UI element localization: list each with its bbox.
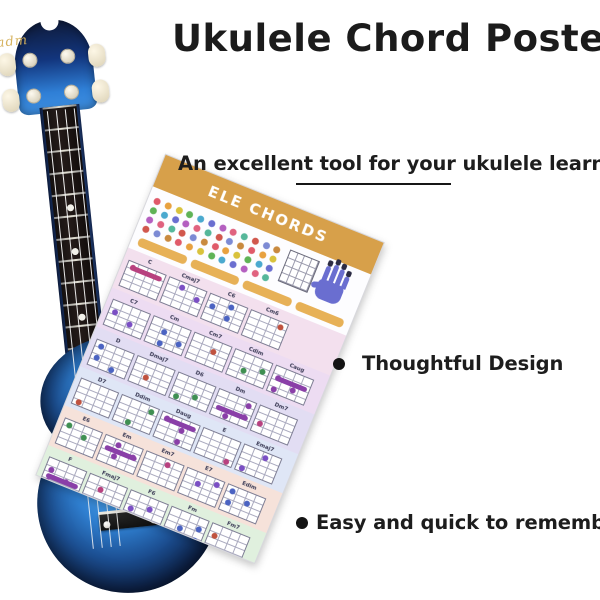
note-dot [261,273,270,282]
ukulele-headstock [11,16,98,116]
tuning-peg-4 [91,79,110,104]
note-dot [196,247,205,256]
subtitle-underline [296,183,451,185]
note-dot [210,242,219,251]
note-dot [236,241,245,250]
feature-item-thoughtful-design: Thoughtful Design [333,352,563,375]
note-dot [185,242,194,251]
note-dot [262,241,271,250]
note-dot [163,201,172,210]
note-dot [239,264,248,273]
note-dot [258,250,267,259]
note-dot [218,223,227,232]
note-dot [167,224,176,233]
note-dot [192,224,201,233]
feature-label: Thoughtful Design [362,352,563,375]
note-dot [185,210,194,219]
note-dot [221,246,230,255]
note-dot [272,245,281,254]
note-dot [269,255,278,264]
note-dot [153,197,162,206]
feature-label: Easy and quick to remember [316,511,600,534]
note-dot [228,260,237,269]
note-dot [240,232,249,241]
bullet-point-icon [333,358,345,370]
note-dot [156,220,165,229]
note-dot [178,229,187,238]
note-dot [171,215,180,224]
note-dot [247,246,256,255]
page-title: Ukulele Chord Poster [172,20,592,59]
note-dot [229,228,238,237]
note-dot [207,251,216,260]
note-dot [214,233,223,242]
page-subtitle: An excellent tool for your ukulele learn… [178,152,598,175]
note-dot [254,260,263,269]
feature-item-easy-to-remember: Easy and quick to remember [296,511,600,534]
note-dot [243,255,252,264]
note-dot [196,215,205,224]
note-dot [174,238,183,247]
note-dot [152,229,161,238]
note-dot [149,206,158,215]
note-dot [232,251,241,260]
product-image: adm [0,0,600,600]
note-dot [141,225,150,234]
note-dot [200,238,209,247]
note-dot [203,228,212,237]
note-dot [160,211,169,220]
note-dot [181,219,190,228]
tuning-peg-3 [87,43,106,68]
note-dot [163,234,172,243]
note-dot [265,264,274,273]
hand-diagram-icon [310,263,353,308]
note-dot [189,233,198,242]
note-dot [145,216,154,225]
note-dot [250,269,259,278]
note-dot [225,237,234,246]
bullet-point-icon [296,517,308,529]
note-dot [251,237,260,246]
note-dot [207,219,216,228]
note-dot [174,206,183,215]
tuning-peg-2 [1,88,20,113]
note-dot [218,256,227,265]
